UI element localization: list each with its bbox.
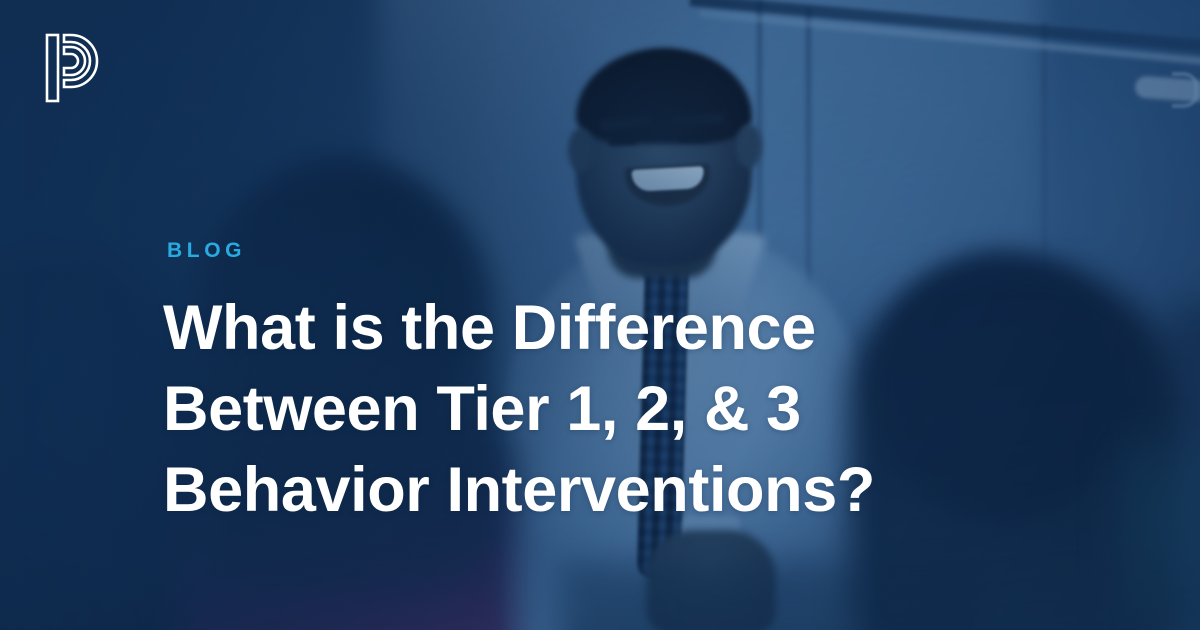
headline-line-2: Between Tier 1, 2, & 3 bbox=[163, 369, 943, 450]
headline-line-3: Behavior Interventions? bbox=[163, 450, 943, 531]
page-title: What is the Difference Between Tier 1, 2… bbox=[163, 288, 943, 531]
eyebrow-label-blog: BLOG bbox=[167, 240, 246, 261]
card-content: BLOG What is the Difference Between Tier… bbox=[0, 0, 1200, 630]
blog-social-card: BLOG What is the Difference Between Tier… bbox=[0, 0, 1200, 630]
powerschool-p-logo-icon[interactable] bbox=[44, 32, 108, 104]
headline-line-1: What is the Difference bbox=[163, 288, 943, 369]
